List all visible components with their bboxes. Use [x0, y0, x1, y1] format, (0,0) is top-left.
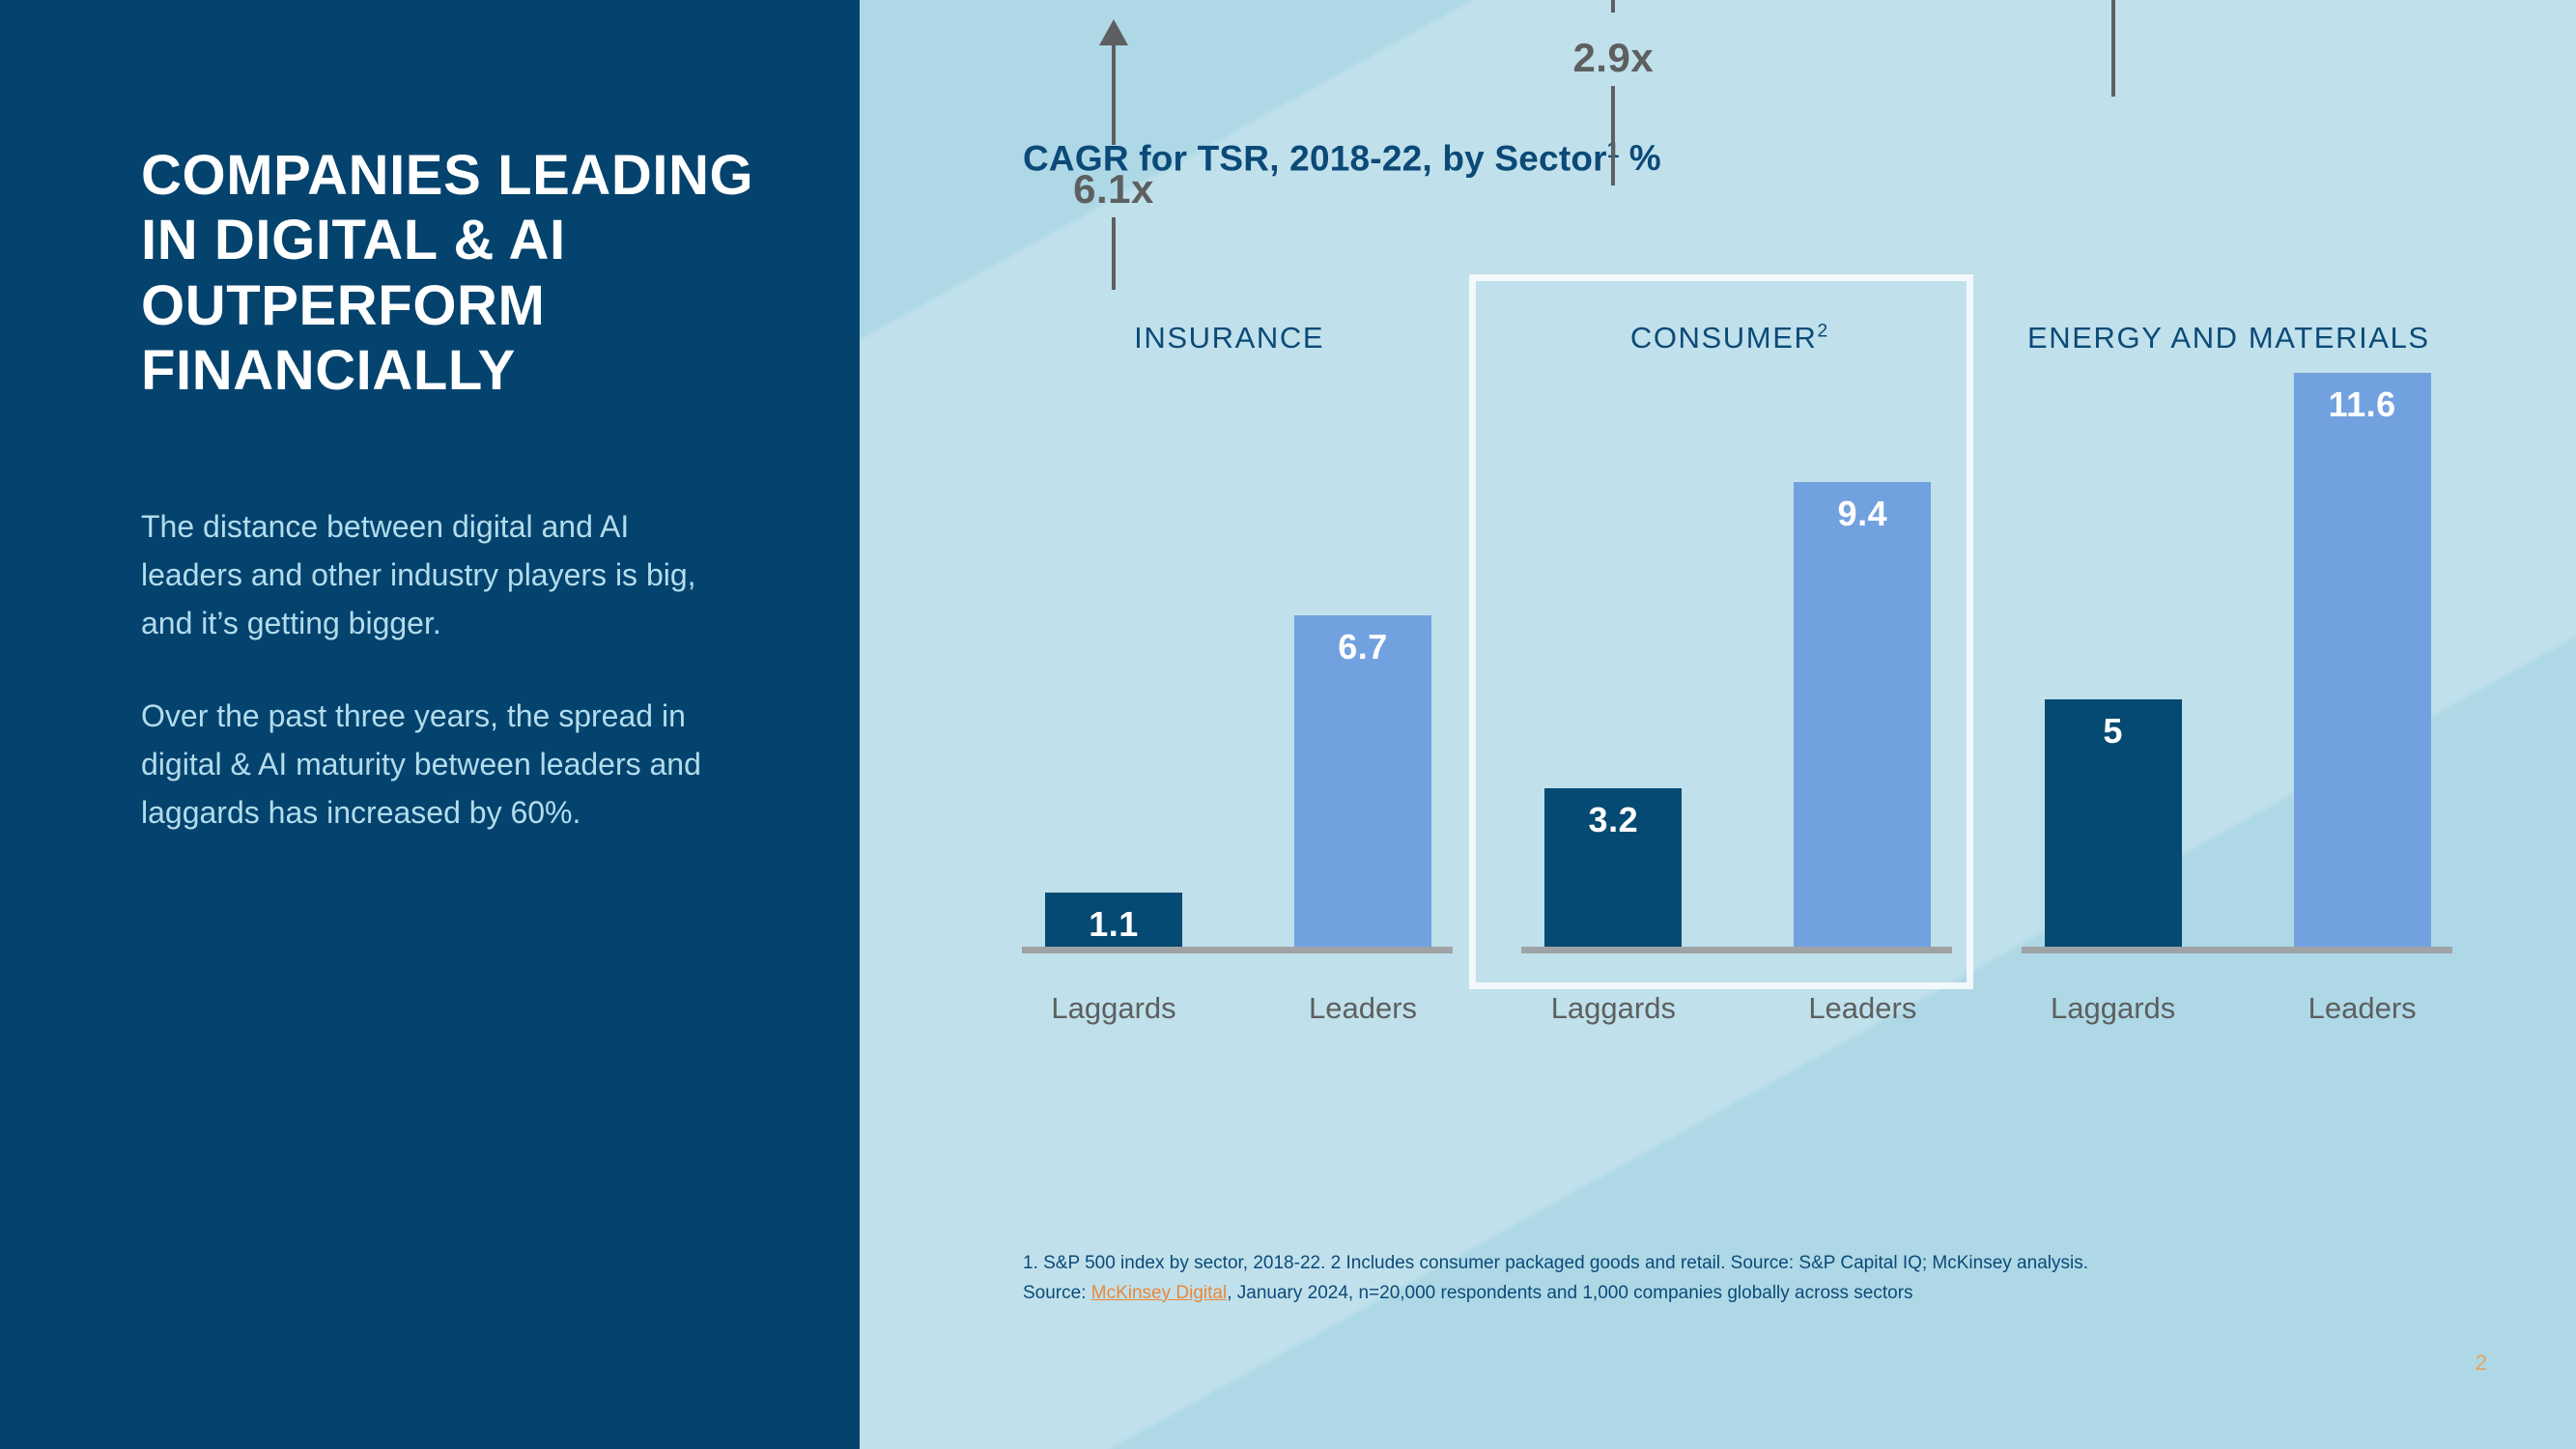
bar-leaders-consumer[interactable]: 9.4 [1794, 482, 1931, 947]
baseline-axis [1022, 947, 1453, 953]
bar-leaders-energy[interactable]: 11.6 [2294, 373, 2431, 947]
plot-insurance: 1.1 6.7 6.1x Laggards Leaders [1037, 348, 1437, 947]
bar-laggards-insurance[interactable]: 1.1 [1045, 893, 1182, 947]
left-text-panel: COMPANIES LEADING IN DIGITAL & AI OUTPER… [0, 0, 860, 1449]
footnote-source-suffix: , January 2024, n=20,000 respondents and… [1227, 1283, 1912, 1303]
footnote-line-1: 1. S&P 500 index by sector, 2018-22. 2 I… [1023, 1249, 2404, 1279]
multiplier-line-upper [1112, 43, 1116, 145]
footnotes: 1. S&P 500 index by sector, 2018-22. 2 I… [1023, 1249, 2404, 1309]
bar-value-leaders: 6.7 [1294, 627, 1431, 668]
bar-value-laggards: 1.1 [1045, 904, 1182, 945]
axis-label-leaders-energy: Leaders [2294, 991, 2431, 1026]
body-paragraph-2: Over the past three years, the spread in… [141, 693, 721, 838]
bar-value-laggards: 5 [2045, 711, 2182, 752]
chart-area: CAGR for TSR, 2018-22, by Sector1% INSUR… [860, 0, 2576, 1449]
slide: COMPANIES LEADING IN DIGITAL & AI OUTPER… [0, 0, 2576, 1449]
bar-leaders-insurance[interactable]: 6.7 [1294, 615, 1431, 947]
chart-group-consumer: CONSUMER2 3.2 9.4 2.9x [1485, 274, 1972, 1124]
bar-value-leaders: 11.6 [2294, 384, 2431, 425]
chart-group-insurance: INSURANCE 1.1 6.7 6.1x [985, 274, 1473, 1124]
group-label-footnote-marker: 2 [1817, 322, 1827, 342]
multiplier-line-lower [1112, 217, 1116, 290]
axis-label-laggards-consumer: Laggards [1544, 991, 1682, 1026]
chart-title-unit: % [1629, 138, 1661, 178]
multiplier-label: 6.1x [988, 166, 1239, 213]
multiplier-line-upper [1611, 0, 1615, 13]
page-title: COMPANIES LEADING IN DIGITAL & AI OUTPER… [141, 143, 778, 403]
body-paragraph-1: The distance between digital and AI lead… [141, 503, 721, 648]
bar-value-leaders: 9.4 [1794, 494, 1931, 534]
page-number: 2 [2476, 1350, 2487, 1376]
multiplier-line-lower [2111, 0, 2115, 97]
footnote-line-2: Source: McKinsey Digital, January 2024, … [1023, 1279, 2404, 1309]
axis-label-laggards-insurance: Laggards [1045, 991, 1182, 1026]
axis-label-leaders-insurance: Leaders [1294, 991, 1431, 1026]
bar-chart-groups: INSURANCE 1.1 6.7 6.1x [985, 274, 2473, 1124]
chart-group-energy-and-materials: ENERGY AND MATERIALS 5 11.6 2.3x [1985, 274, 2473, 1124]
plot-consumer: 3.2 9.4 2.9x Laggards Leaders [1537, 348, 1937, 947]
axis-label-leaders-consumer: Leaders [1794, 991, 1931, 1026]
mckinsey-digital-link[interactable]: McKinsey Digital [1091, 1283, 1227, 1303]
arrow-up-icon [1099, 19, 1128, 45]
baseline-axis [1521, 947, 1952, 953]
bar-value-laggards: 3.2 [1544, 800, 1682, 840]
bar-laggards-energy[interactable]: 5 [2045, 699, 2182, 947]
baseline-axis [2022, 947, 2452, 953]
bar-laggards-consumer[interactable]: 3.2 [1544, 788, 1682, 947]
multiplier-label: 2.9x [1487, 35, 1739, 81]
footnote-source-prefix: Source: [1023, 1283, 1091, 1303]
axis-label-laggards-energy: Laggards [2045, 991, 2182, 1026]
multiplier-line-lower [1611, 86, 1615, 185]
plot-energy-and-materials: 5 11.6 2.3x Laggards Leaders [2037, 348, 2437, 947]
